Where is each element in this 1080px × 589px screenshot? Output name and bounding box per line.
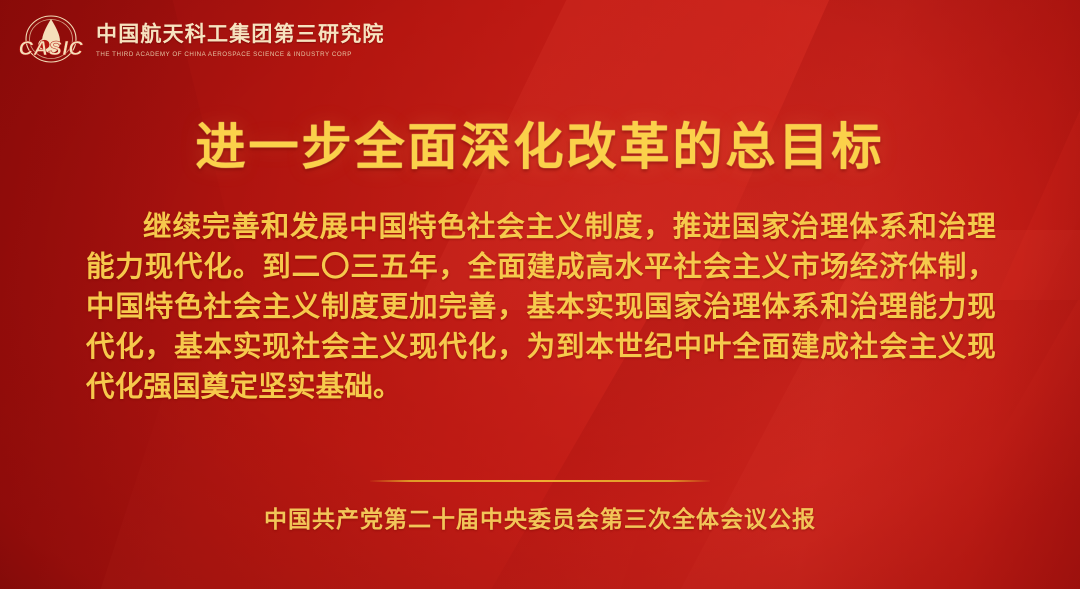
page-title: 进一步全面深化改革的总目标: [0, 107, 1080, 179]
footer-divider: [370, 480, 710, 482]
source-attribution: 中国共产党第二十届中央委员会第三次全体会议公报: [0, 500, 1080, 534]
brand-text-block: 中国航天科工集团第三研究院 THE THIRD ACADEMY OF CHINA…: [96, 23, 385, 59]
poster-body-block: 继续完善和发展中国特色社会主义制度，推进国家治理体系和治理能力现代化。到二〇三五…: [86, 207, 996, 407]
poster-body-text: 继续完善和发展中国特色社会主义制度，推进国家治理体系和治理能力现代化。到二〇三五…: [86, 207, 996, 407]
brand-header: CASIC 中国航天科工集团第三研究院 THE THIRD ACADEMY OF…: [18, 14, 385, 68]
poster-canvas: CASIC 中国航天科工集团第三研究院 THE THIRD ACADEMY OF…: [0, 0, 1080, 589]
svg-text:CASIC: CASIC: [19, 38, 84, 60]
organization-name-en: THE THIRD ACADEMY OF CHINA AEROSPACE SCI…: [96, 50, 385, 59]
organization-name-cn: 中国航天科工集团第三研究院: [96, 23, 385, 47]
casic-rocket-emblem-icon: CASIC: [18, 14, 84, 68]
